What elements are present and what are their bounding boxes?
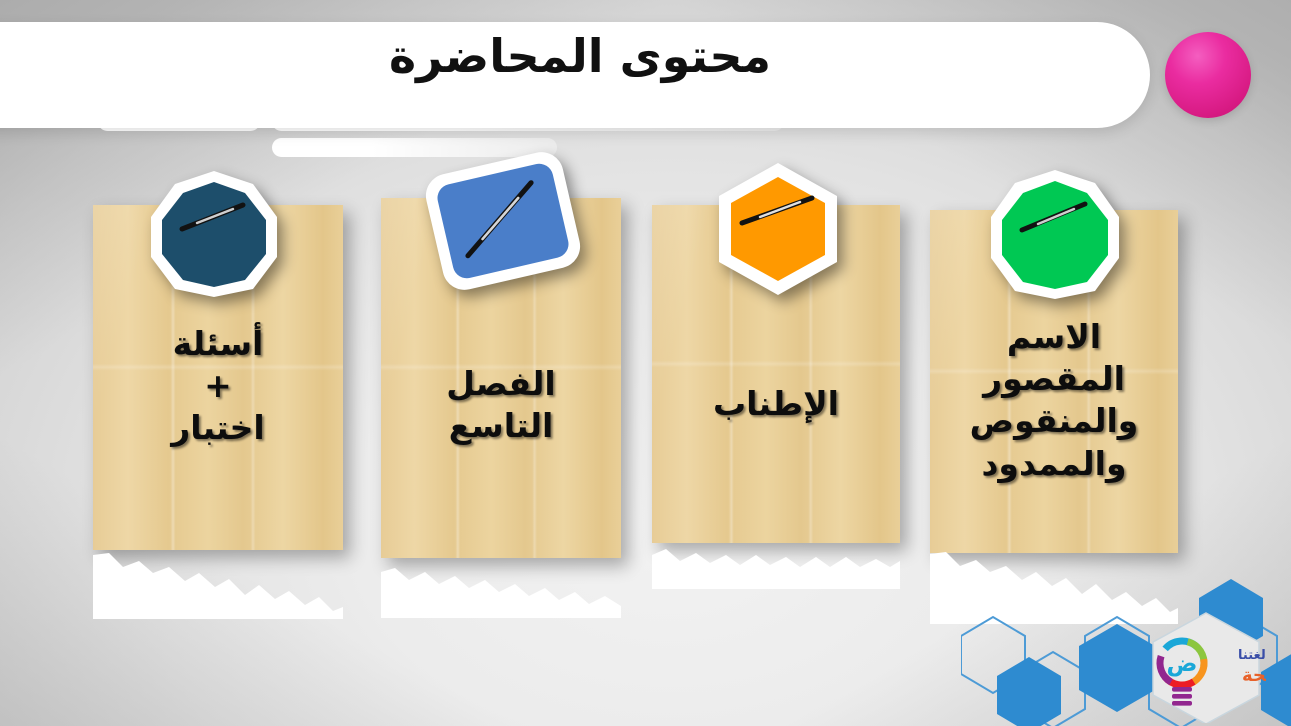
card-torn-edge-4 — [930, 540, 1178, 624]
content-card-3[interactable]: الإطناب — [652, 205, 900, 587]
logo-line-2: الواضحة — [1242, 665, 1266, 686]
rounded-rect-badge-blue[interactable] — [413, 146, 593, 296]
content-card-1[interactable]: أسئلة + اختبار — [93, 205, 343, 617]
card-label-1: أسئلة + اختبار — [93, 323, 343, 450]
content-card-4[interactable]: الاسم المقصور والمنقوص والممدود — [930, 210, 1178, 620]
card-label-3: الإطناب — [652, 383, 900, 425]
card-torn-edge-2 — [381, 546, 621, 618]
decagon-badge-green[interactable] — [988, 168, 1122, 302]
content-card-2[interactable]: الفصل التاسع — [381, 198, 621, 616]
accent-circle — [1165, 32, 1251, 118]
logo-letter: ض — [1167, 651, 1198, 677]
logo-line-1: لغتنا — [1238, 648, 1266, 663]
card-label-2: الفصل التاسع — [381, 363, 621, 447]
hexagon-badge-orange[interactable] — [708, 159, 848, 299]
card-label-4: الاسم المقصور والمنقوص والممدود — [930, 316, 1178, 485]
brand-logo[interactable]: ض لغتنا الواضحة — [1146, 611, 1266, 723]
decagon-badge-teal[interactable] — [149, 169, 279, 299]
page-title: محتوى المحاضرة — [0, 24, 1160, 88]
card-torn-edge-1 — [93, 537, 343, 619]
card-torn-edge-3 — [652, 533, 900, 589]
slide-canvas: محتوى المحاضرة أسئلة + اختبار — [0, 0, 1291, 726]
